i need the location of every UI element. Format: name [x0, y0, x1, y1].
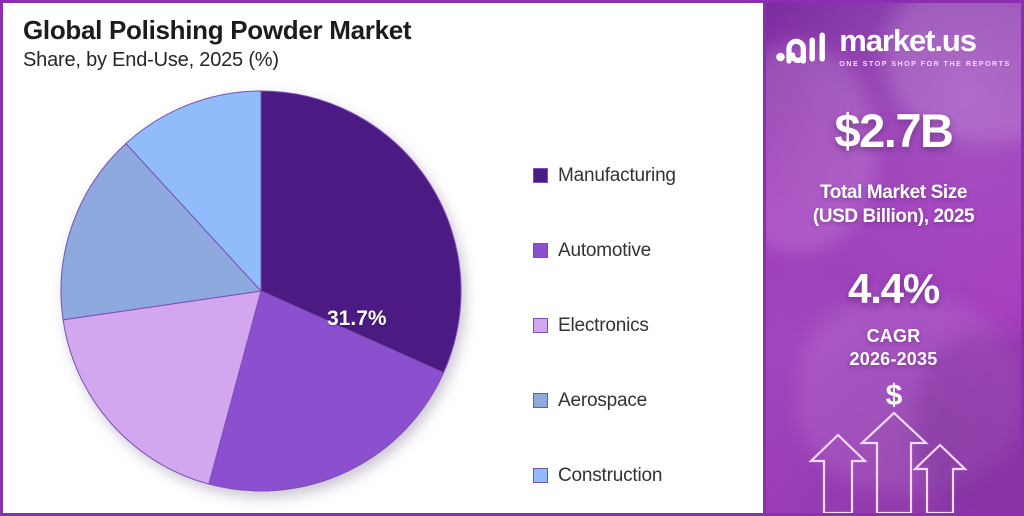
market-size-caption-line1: Total Market Size — [766, 181, 1021, 205]
legend-swatch-icon — [533, 393, 548, 408]
legend-item-electronics[interactable]: Electronics — [533, 288, 753, 363]
cagr-caption: CAGR 2026-2035 — [766, 325, 1021, 372]
pie-chart-svg — [59, 89, 463, 493]
arrow-up-icon-right — [915, 445, 965, 513]
pie-chart: 31.7% — [59, 89, 463, 493]
cagr-caption-line2: 2026-2035 — [766, 348, 1021, 371]
legend-label: Electronics — [558, 315, 649, 337]
cagr-value: 4.4% — [766, 265, 1021, 313]
legend-label: Automotive — [558, 240, 651, 262]
legend: Manufacturing Automotive Electronics Aer… — [533, 138, 753, 513]
arrow-up-icon-left — [811, 435, 865, 513]
pie-slice-label-manufacturing: 31.7% — [327, 307, 387, 331]
infographic-root: Global Polishing Powder Market Share, by… — [0, 0, 1024, 516]
legend-item-aerospace[interactable]: Aerospace — [533, 363, 753, 438]
brand-logo[interactable]: market.us ONE STOP SHOP FOR THE REPORTS — [766, 25, 1021, 68]
pie-slice-group — [61, 91, 461, 491]
brand-panel: market.us ONE STOP SHOP FOR THE REPORTS … — [763, 3, 1021, 513]
legend-swatch-icon — [533, 168, 548, 183]
market-size-caption-line2: (USD Billion), 2025 — [766, 205, 1021, 229]
chart-panel: Global Polishing Powder Market Share, by… — [3, 3, 763, 513]
logo-wordmark: market.us — [839, 25, 1010, 56]
legend-swatch-icon — [533, 318, 548, 333]
legend-swatch-icon — [533, 468, 548, 483]
market-us-logo-icon — [776, 30, 830, 64]
page-title: Global Polishing Powder Market — [23, 15, 411, 46]
cagr-caption-line1: CAGR — [766, 325, 1021, 348]
legend-label: Construction — [558, 465, 662, 487]
legend-item-construction[interactable]: Construction — [533, 438, 753, 513]
growth-arrows-graphic: $ — [794, 373, 994, 513]
logo-text-wrap: market.us ONE STOP SHOP FOR THE REPORTS — [839, 25, 1010, 68]
legend-item-manufacturing[interactable]: Manufacturing — [533, 138, 753, 213]
page-subtitle: Share, by End-Use, 2025 (%) — [23, 49, 279, 72]
market-size-value: $2.7B — [766, 103, 1021, 158]
legend-label: Manufacturing — [558, 165, 676, 187]
legend-swatch-icon — [533, 243, 548, 258]
arrow-up-icon-center — [862, 413, 926, 513]
legend-label: Aerospace — [558, 390, 647, 412]
logo-tagline: ONE STOP SHOP FOR THE REPORTS — [839, 59, 1010, 68]
market-size-caption: Total Market Size (USD Billion), 2025 — [766, 181, 1021, 230]
dollar-sign-icon: $ — [885, 379, 902, 412]
legend-item-automotive[interactable]: Automotive — [533, 213, 753, 288]
